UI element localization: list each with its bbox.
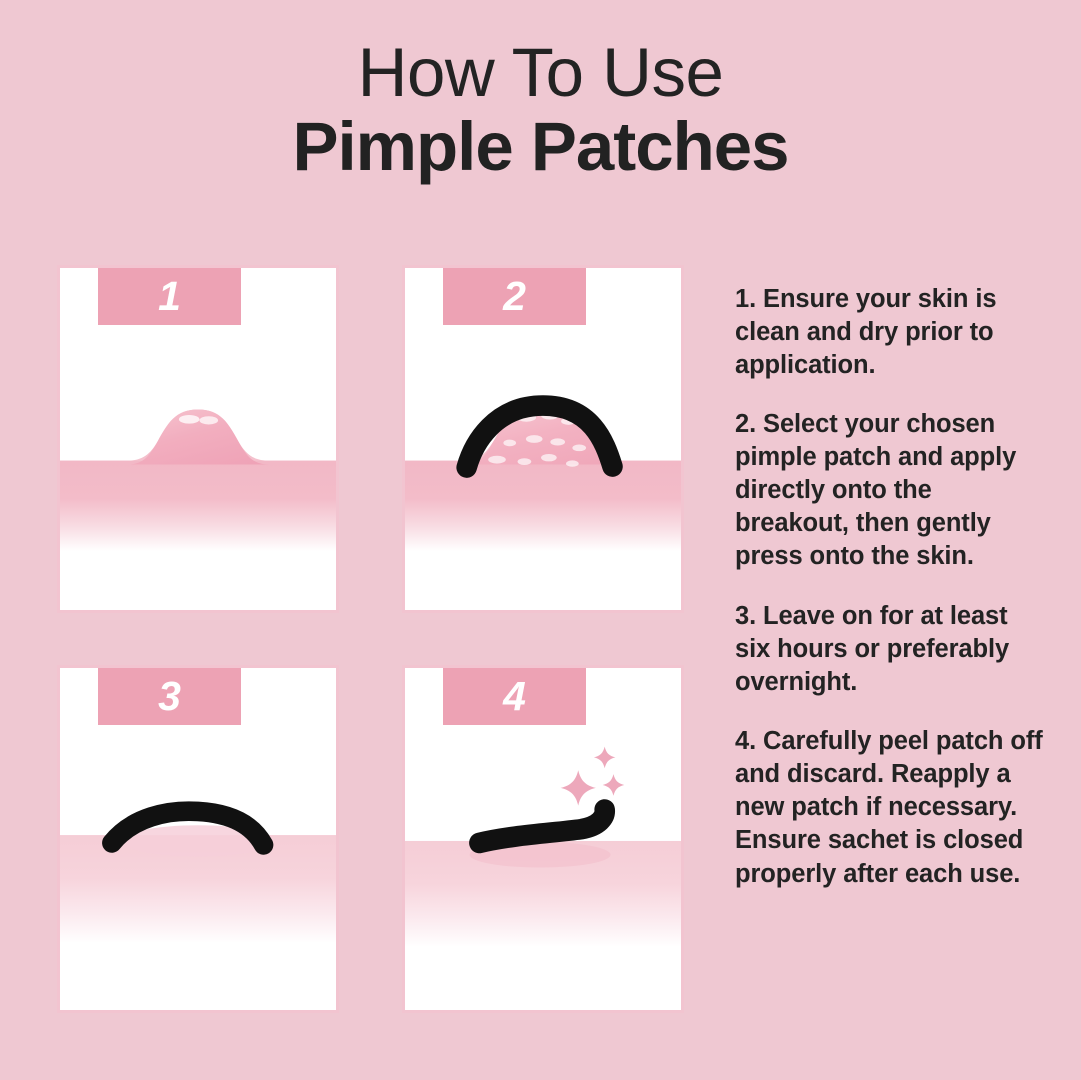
panel-patch-removed: 4 xyxy=(402,665,684,1013)
panel-pimple-bump: 1 xyxy=(57,265,339,613)
instructions-list: 1. Ensure your skin is clean and dry pri… xyxy=(735,257,1045,891)
instruction-step-2: 2. Select your chosen pimple patch and a… xyxy=(735,408,1045,574)
sparkle-group xyxy=(561,747,625,806)
panel-patch-overnight: 3 xyxy=(57,665,339,1013)
panel-patch-applied: 2 xyxy=(402,265,684,613)
infographic-page: How To Use Pimple Patches xyxy=(0,0,1081,1080)
panel-number-badge: 2 xyxy=(443,268,586,325)
page-title: How To Use Pimple Patches xyxy=(0,38,1081,186)
panel-number-badge: 1 xyxy=(98,268,241,325)
title-line-two: Pimple Patches xyxy=(0,108,1081,185)
title-line-one: How To Use xyxy=(0,38,1081,108)
panel-number-badge: 4 xyxy=(443,668,586,725)
instruction-step-4: 4. Carefully peel patch off and discard.… xyxy=(735,725,1045,891)
illustration-grid: 1 xyxy=(57,265,692,1013)
instruction-step-3: 3. Leave on for at least six hours or pr… xyxy=(735,600,1045,699)
instruction-step-1: 1. Ensure your skin is clean and dry pri… xyxy=(735,283,1045,382)
panel-number-badge: 3 xyxy=(98,668,241,725)
